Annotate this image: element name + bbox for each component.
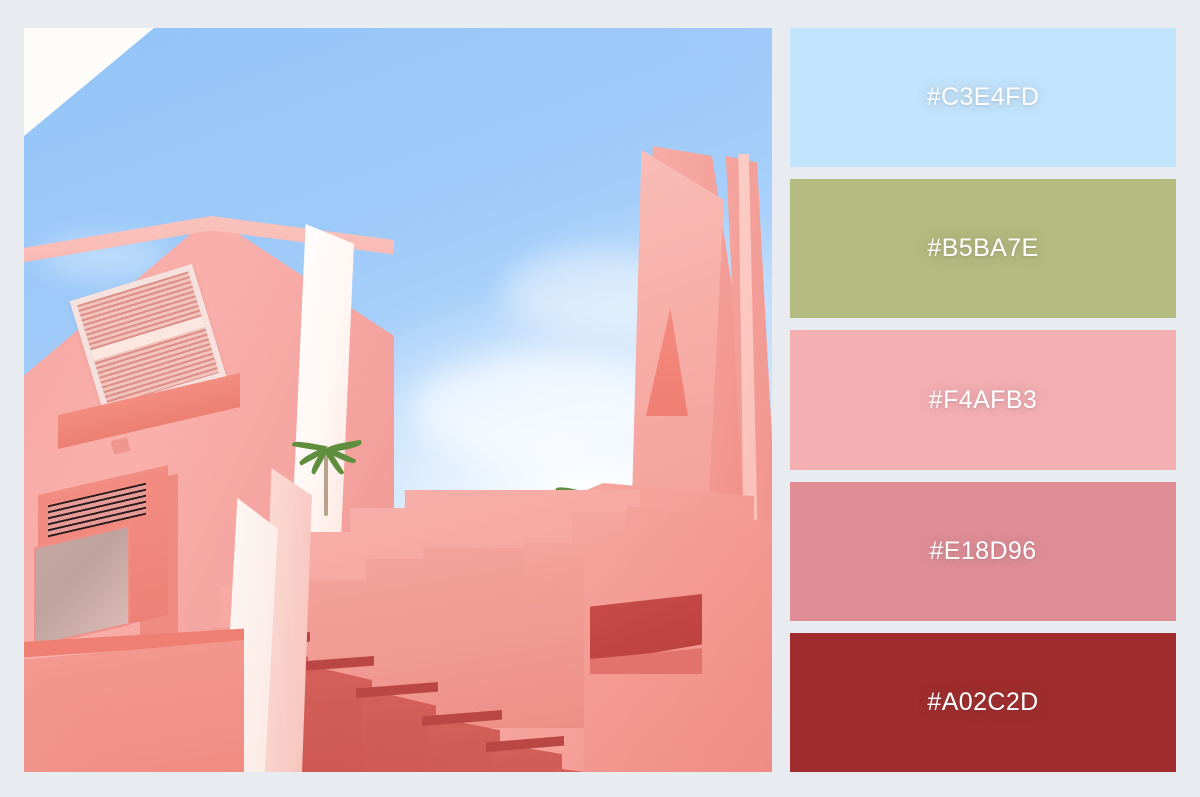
swatch-light-pink[interactable]: #F4AFB3 xyxy=(790,330,1176,469)
swatch-hex-label: #E18D96 xyxy=(929,537,1036,566)
swatch-hex-label: #C3E4FD xyxy=(927,83,1040,112)
stair-tread xyxy=(294,662,372,772)
swatch-hex-label: #B5BA7E xyxy=(927,234,1038,263)
palette-board: #C3E4FD #B5BA7E #F4AFB3 #E18D96 #A02C2D xyxy=(0,0,1200,797)
cloud xyxy=(413,355,663,465)
photo-canvas xyxy=(24,28,772,772)
swatch-olive-green[interactable]: #B5BA7E xyxy=(790,179,1176,318)
swatch-hex-label: #F4AFB3 xyxy=(929,386,1037,415)
swatch-light-blue[interactable]: #C3E4FD xyxy=(790,28,1176,167)
source-photo[interactable] xyxy=(24,28,772,772)
palette-swatch-list: #C3E4FD #B5BA7E #F4AFB3 #E18D96 #A02C2D xyxy=(790,28,1176,772)
left-ledge xyxy=(24,640,244,772)
swatch-rose-pink[interactable]: #E18D96 xyxy=(790,482,1176,621)
swatch-hex-label: #A02C2D xyxy=(927,688,1038,717)
swatch-dark-red[interactable]: #A02C2D xyxy=(790,633,1176,772)
